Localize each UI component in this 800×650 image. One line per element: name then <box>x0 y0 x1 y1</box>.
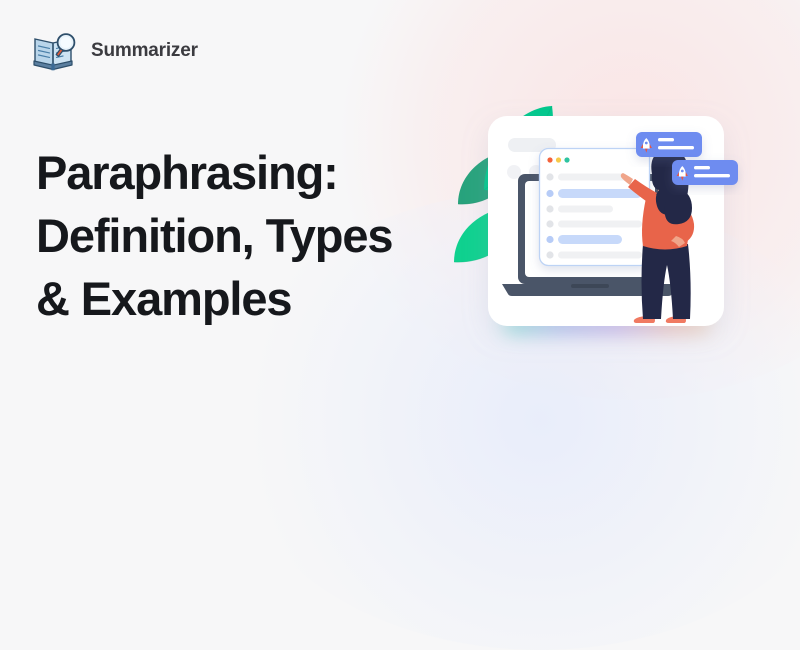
document-window <box>540 149 650 266</box>
traffic-light-yellow <box>556 157 561 162</box>
page-title: Paraphrasing: Definition, Types & Exampl… <box>36 142 456 331</box>
brand-logo[interactable]: Summarizer <box>32 30 198 72</box>
traffic-light-red <box>547 157 552 162</box>
document-row <box>546 220 642 227</box>
open-book-magnifier-icon <box>32 30 78 72</box>
brand-name: Summarizer <box>91 40 198 62</box>
document-row <box>546 251 642 258</box>
page-title-line-2: Definition, Types <box>36 205 456 268</box>
chat-bubble-bottom <box>672 160 738 185</box>
page-title-line-1: Paraphrasing: <box>36 142 456 205</box>
chat-bubble-top <box>636 132 702 157</box>
traffic-light-green <box>564 157 569 162</box>
page-title-line-3: & Examples <box>36 268 456 331</box>
document-row <box>546 189 642 198</box>
paraphrasing-hero-illustration <box>440 88 780 378</box>
